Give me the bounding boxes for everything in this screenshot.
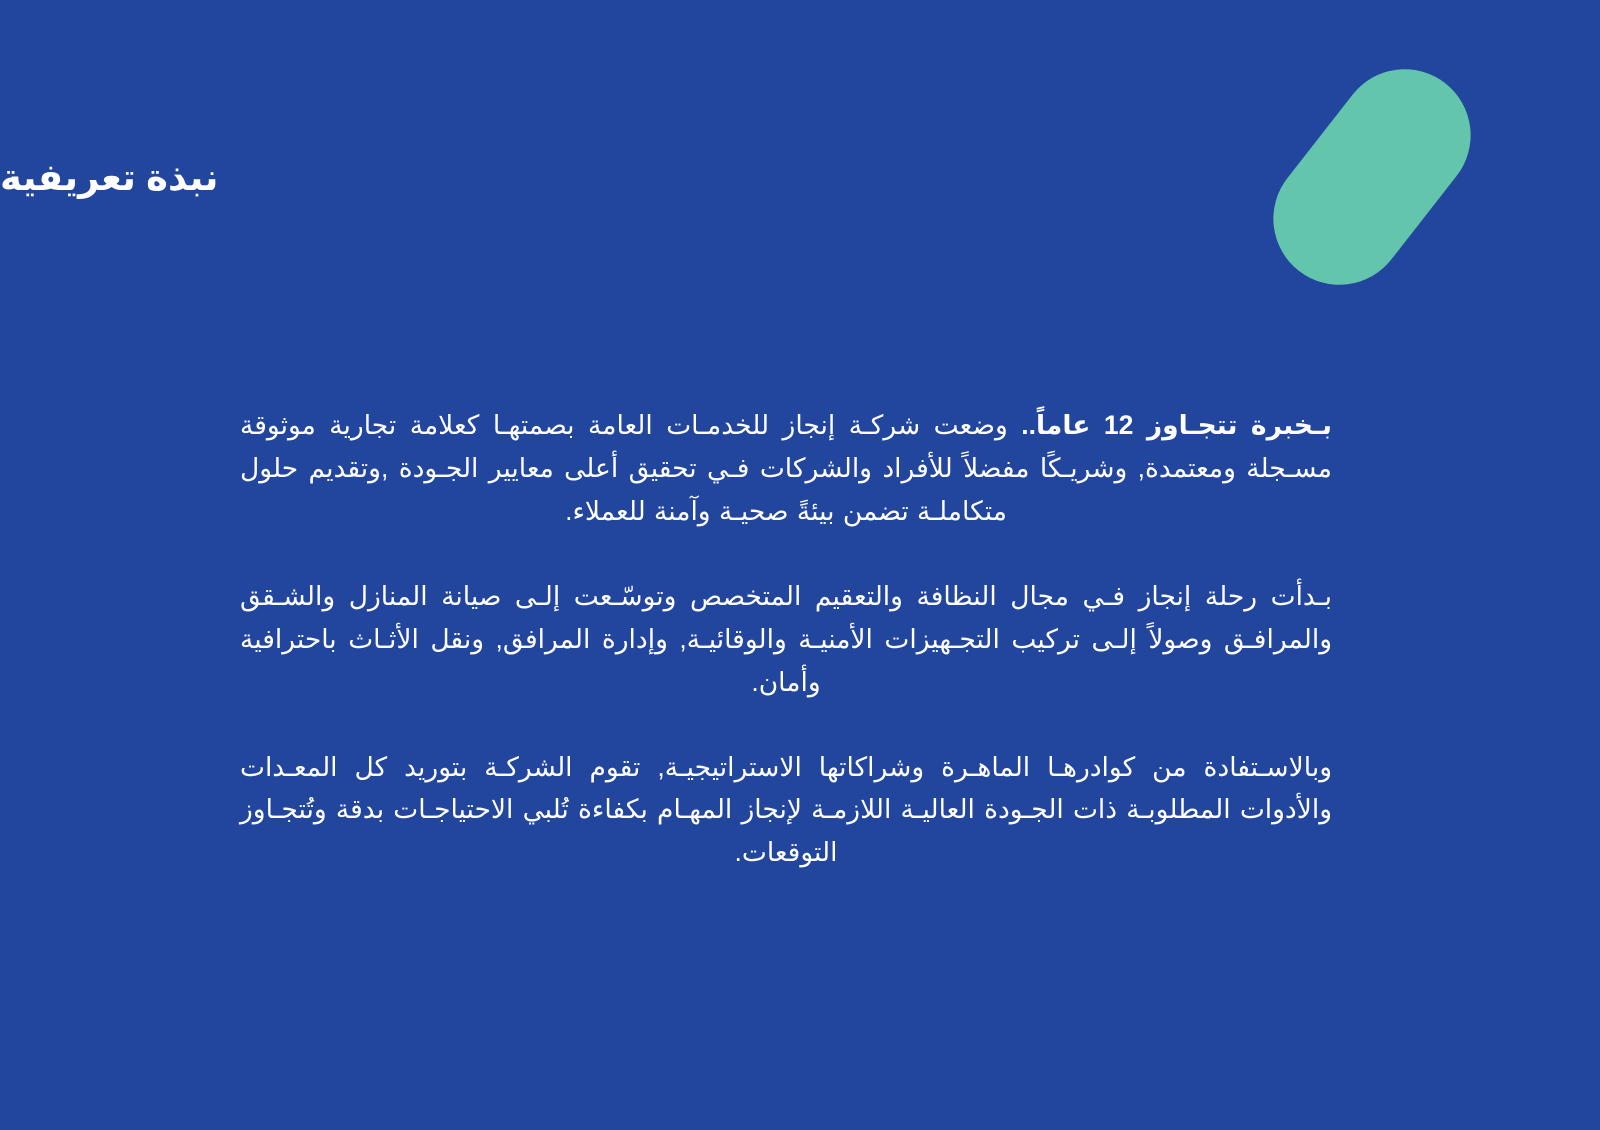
paragraph-2: بـدأت رحلة إنجاز فـي مجال النظافة والتعق… (240, 575, 1332, 704)
body-text-block: بـخبرة تتجـاوز 12 عاماً.. وضعت شركـة إنج… (240, 404, 1332, 874)
paragraph-2-text: بـدأت رحلة إنجاز فـي مجال النظافة والتعق… (240, 581, 1332, 697)
page-title: نبذة تعريفية (0, 155, 218, 201)
slide-root: نبذة تعريفية بـخبرة تتجـاوز 12 عاماً.. و… (0, 0, 1600, 1130)
paragraph-1-lead: بـخبرة تتجـاوز 12 عاماً.. (1021, 410, 1332, 440)
paragraph-3-text: وبالاسـتفادة من كوادرهـا الماهـرة وشراكا… (240, 752, 1332, 868)
paragraph-1: بـخبرة تتجـاوز 12 عاماً.. وضعت شركـة إنج… (240, 404, 1332, 533)
page-title-container: نبذة تعريفية (0, 155, 1435, 201)
paragraph-3: وبالاسـتفادة من كوادرهـا الماهـرة وشراكا… (240, 746, 1332, 875)
